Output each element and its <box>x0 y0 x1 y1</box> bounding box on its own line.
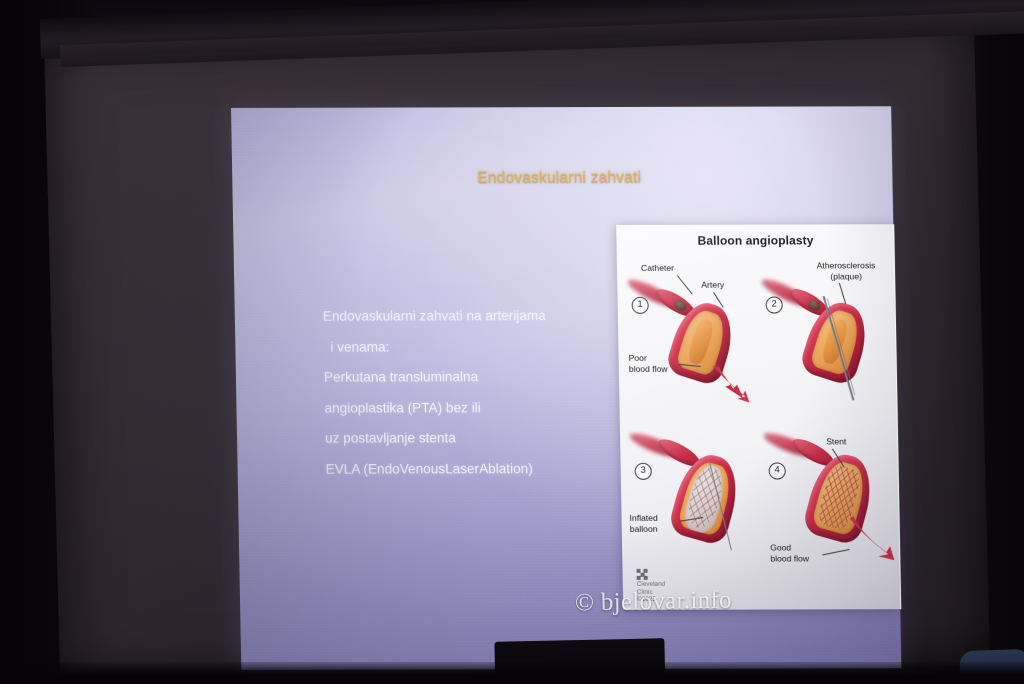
label-inflated-balloon-line2: balloon <box>630 523 658 533</box>
panel-1-poor-flow-arrow <box>711 365 756 410</box>
label-atherosclerosis-line2: (plaque) <box>830 271 862 281</box>
label-artery: Artery <box>701 280 741 291</box>
slide-title: Endovaskularni zahvati <box>477 168 837 187</box>
panel-1-number: 1 <box>632 297 649 314</box>
label-good-blood-flow-line1: Good <box>770 542 791 552</box>
slide-body-line-2: i venama: <box>323 331 654 362</box>
slide-body-line-4: angioplastika (PTA) bez ili <box>324 392 655 423</box>
illustration-title: Balloon angioplasty <box>616 233 894 248</box>
watermark: © bjelovar.info <box>575 586 732 617</box>
label-poor-blood-flow-line2: blood flow <box>629 363 668 373</box>
label-good-blood-flow-line2: blood flow <box>770 553 809 563</box>
panel-4-number: 4 <box>769 463 786 480</box>
label-atherosclerosis-line1: Atherosclerosis <box>817 260 876 270</box>
label-good-blood-flow: Good blood flow <box>770 542 822 563</box>
panel-4-good-flow-arrow <box>848 516 899 567</box>
cleveland-clinic-logo-icon <box>637 569 648 580</box>
panel-3-number: 3 <box>635 463 652 480</box>
leader-catheter <box>677 275 693 294</box>
slide-body-line-6: EVLA (EndoVenousLaserAblation) <box>325 453 656 484</box>
foreground-bottom-shadow <box>0 662 1024 684</box>
slide-body-line-5: uz postavljanje stenta <box>325 423 656 454</box>
label-inflated-balloon: Inflated balloon <box>629 513 679 534</box>
balloon-angioplasty-illustration: Balloon angioplasty 1 Catheter Artery Po… <box>616 224 901 610</box>
slide-body-line-1: Endovaskularni zahvati na arterijama <box>323 301 654 332</box>
panel-2-number: 2 <box>766 297 783 314</box>
label-catheter: Catheter <box>641 263 697 274</box>
label-poor-blood-flow-line1: Poor <box>629 353 647 363</box>
projected-slide: Endovaskularni zahvati Endovaskularni za… <box>231 106 901 670</box>
label-inflated-balloon-line1: Inflated <box>629 513 657 523</box>
label-atherosclerosis: Atherosclerosis (plaque) <box>805 260 887 281</box>
screenshot-root: Endovaskularni zahvati Endovaskularni za… <box>0 0 1024 684</box>
label-stent: Stent <box>826 436 866 447</box>
leader-good-flow <box>822 549 850 555</box>
slide-body-line-3: Perkutana transluminalna <box>324 362 655 393</box>
label-poor-blood-flow: Poor blood flow <box>629 353 679 374</box>
slide-body-text: Endovaskularni zahvati na arterijama i v… <box>323 301 656 485</box>
